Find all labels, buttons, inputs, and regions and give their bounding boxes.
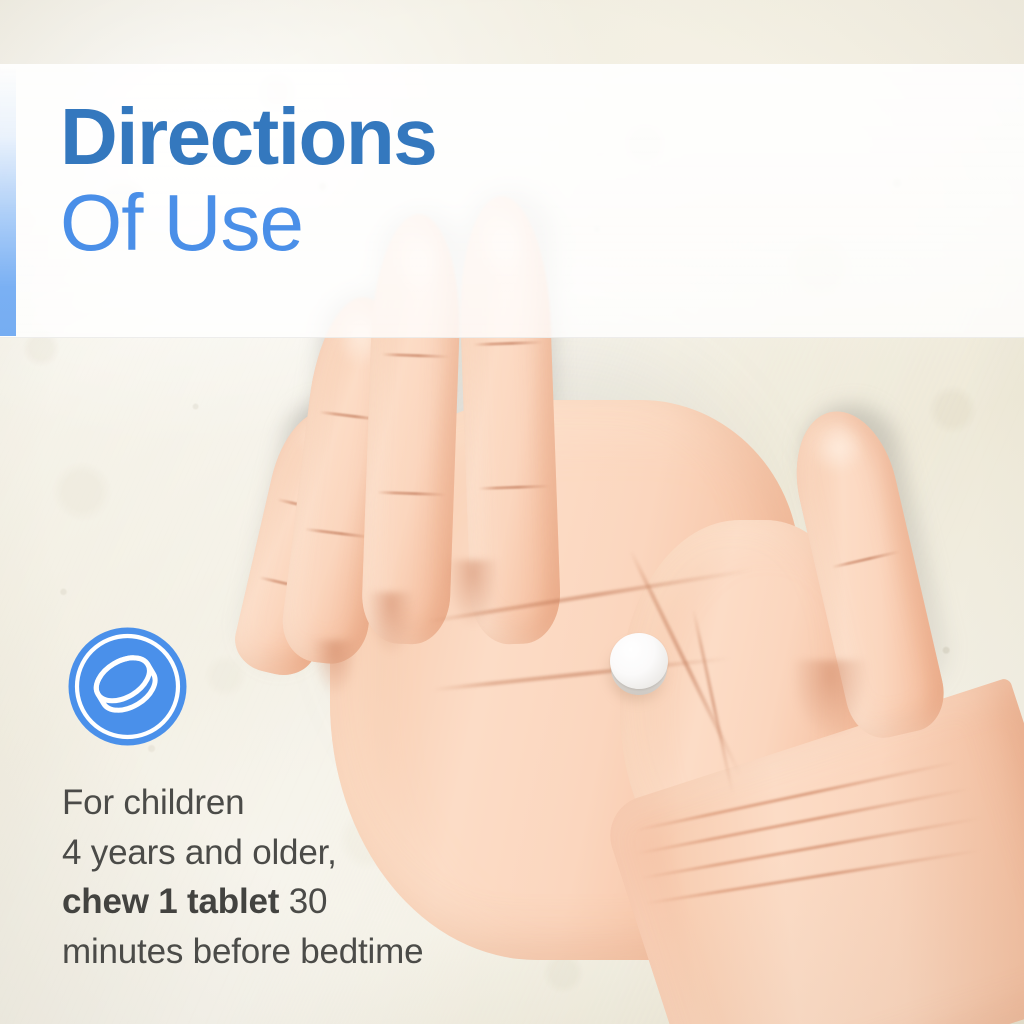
page-title-secondary: Of Use [60, 182, 436, 264]
usage-line-3: chew 1 tablet 30 [62, 877, 532, 927]
usage-instructions: For children 4 years and older, chew 1 t… [62, 778, 532, 977]
usage-line-2: 4 years and older, [62, 828, 532, 878]
title-block: Directions Of Use [60, 98, 436, 264]
usage-line-1: For children [62, 778, 532, 828]
product-instruction-graphic: Directions Of Use For children 4 years a… [0, 0, 1024, 1024]
usage-line-3-bold: chew 1 tablet [62, 882, 279, 921]
usage-line-4: minutes before bedtime [62, 927, 532, 977]
usage-line-3-rest: 30 [279, 882, 327, 921]
accent-bar [0, 66, 16, 336]
page-title-primary: Directions [60, 98, 436, 176]
chewable-tablet-icon [68, 627, 187, 746]
